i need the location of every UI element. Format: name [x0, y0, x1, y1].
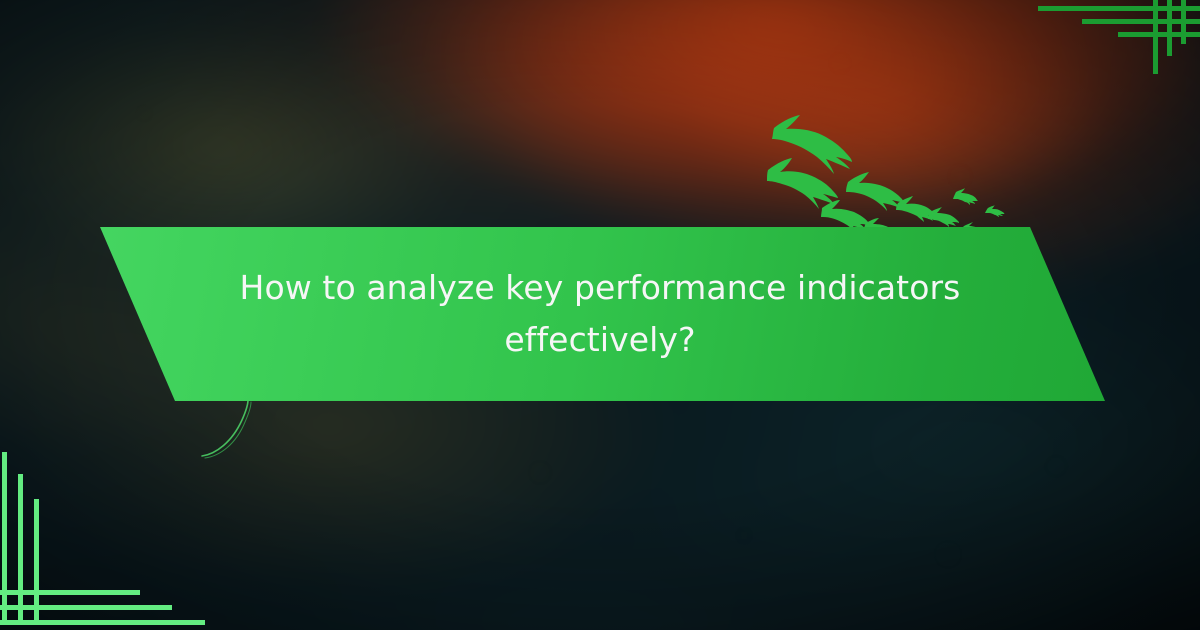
corner-bracket-bottom-left: [0, 440, 170, 630]
bracket-line-vertical-2: [18, 474, 23, 622]
bracket-line-vertical-1: [1153, 0, 1158, 74]
bracket-line-horizontal-1: [0, 590, 140, 595]
bracket-line-vertical-1: [2, 452, 7, 622]
bracket-line-vertical-2: [1167, 0, 1172, 56]
headline-text: How to analyze key performance indicator…: [220, 262, 980, 366]
birds-svg: [760, 108, 1016, 236]
swoosh-arc-icon: [196, 392, 276, 472]
bracket-line-vertical-3: [34, 499, 39, 622]
bracket-line-horizontal-3: [1118, 32, 1200, 37]
headline-banner: How to analyze key performance indicator…: [0, 227, 1200, 401]
swoosh-svg: [196, 392, 276, 472]
corner-bracket-top-right: [1030, 0, 1200, 90]
bracket-line-horizontal-1: [1038, 6, 1200, 11]
bracket-line-horizontal-2: [0, 605, 172, 610]
banner-canvas: How to analyze key performance indicator…: [0, 0, 1200, 630]
flying-birds-icon: [760, 108, 1016, 236]
bracket-line-horizontal-3: [0, 620, 205, 625]
bracket-line-horizontal-2: [1082, 19, 1200, 24]
bracket-line-vertical-3: [1181, 0, 1186, 44]
